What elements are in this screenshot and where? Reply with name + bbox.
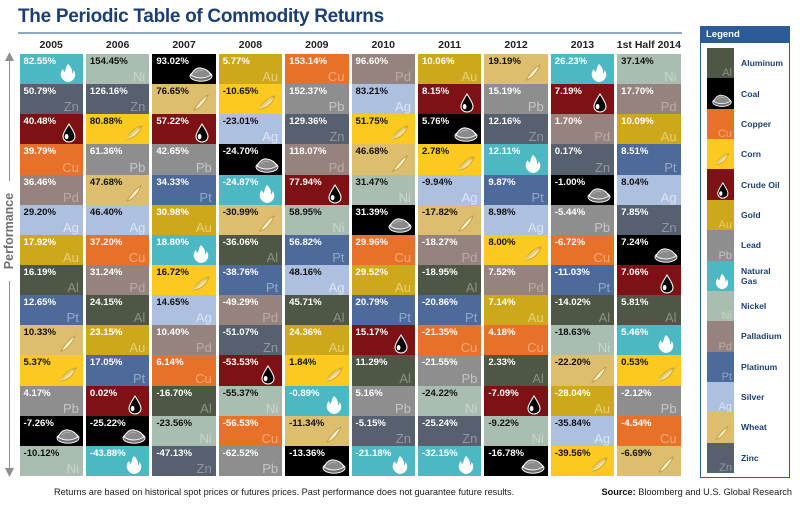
cell-return-value: 5.46%	[621, 327, 648, 338]
commodity-cell[interactable]: -24.22%Ni	[418, 386, 481, 416]
cell-return-value: 7.14%	[488, 297, 515, 308]
cell-commodity-symbol: Cu	[394, 251, 411, 265]
legend-symbol: Zn	[719, 462, 732, 474]
cell-return-value: -55.37%	[223, 388, 259, 399]
commodity-cell[interactable]: 8.04%Ag	[617, 175, 680, 205]
cell-commodity-symbol: Cu	[62, 161, 79, 175]
cell-commodity-symbol: Zn	[130, 100, 145, 114]
commodity-cell[interactable]: 0.02%	[86, 386, 149, 416]
commodity-cell[interactable]: -18.27%Pd	[418, 235, 481, 265]
cell-commodity-symbol: Ag	[395, 100, 411, 114]
commodity-cell[interactable]: -53.53%	[219, 355, 282, 385]
legend-swatch: Cu	[707, 109, 734, 139]
commodity-cell[interactable]: 18.80%	[152, 235, 215, 265]
commodity-cell[interactable]: 7.19%	[551, 84, 614, 114]
coal-icon	[711, 91, 733, 108]
commodity-cell[interactable]: 20.79%Pt	[352, 295, 415, 325]
cell-return-value: -39.56%	[555, 448, 591, 459]
commodity-cell[interactable]: -2.12%Pb	[617, 386, 680, 416]
coal-icon	[254, 154, 280, 174]
commodity-cell[interactable]: -7.26%	[20, 416, 83, 446]
commodity-cell[interactable]: 7.06%	[617, 265, 680, 295]
legend-swatch: Pd	[707, 321, 734, 351]
commodity-cell[interactable]: -28.04%Au	[551, 386, 614, 416]
legend-item[interactable]: Natural Gas	[707, 261, 785, 291]
commodity-cell[interactable]: 26.23%	[551, 54, 614, 84]
cell-return-value: 93.02%	[156, 56, 189, 67]
commodity-cell[interactable]: 37.14%Ni	[617, 54, 680, 84]
commodity-cell[interactable]: 93.02%	[152, 54, 215, 84]
cell-return-value: -56.53%	[223, 418, 259, 429]
cell-return-value: 31.24%	[90, 267, 123, 278]
commodity-cell[interactable]: -36.06%Al	[219, 235, 282, 265]
cell-return-value: 17.92%	[24, 237, 57, 248]
legend-item[interactable]: NiNickel	[707, 291, 785, 321]
commodity-cell[interactable]: 5.77%Au	[219, 54, 282, 84]
commodity-cell[interactable]: 17.70%Pd	[617, 84, 680, 114]
commodity-cell[interactable]: 40.48%	[20, 114, 83, 144]
legend-items: AlAluminumCoalCuCopperCornCrude OilAuGol…	[701, 43, 789, 477]
commodity-cell[interactable]: -11.03%Pt	[551, 265, 614, 295]
commodity-cell[interactable]: -9.94%Ag	[418, 175, 481, 205]
cell-commodity-symbol: Ag	[461, 191, 477, 205]
commodity-cell[interactable]: -4.54%Cu	[617, 416, 680, 446]
commodity-cell[interactable]: -10.65%	[219, 84, 282, 114]
year-column: 26.23%7.19%1.70%Pd0.17%Zn-1.00%-5.44%Pb-…	[551, 54, 614, 476]
cell-commodity-symbol: Al	[134, 311, 146, 325]
commodity-cell[interactable]: -21.35%Cu	[418, 325, 481, 355]
commodity-cell[interactable]: 10.09%Au	[617, 114, 680, 144]
cell-commodity-symbol: Au	[395, 281, 411, 295]
commodity-cell[interactable]: 7.14%Au	[484, 295, 547, 325]
commodity-cell[interactable]: 57.22%	[152, 114, 215, 144]
cell-return-value: 58.95%	[289, 207, 322, 218]
commodity-cell[interactable]: 153.14%Cu	[285, 54, 348, 84]
cell-return-value: 56.82%	[289, 237, 322, 248]
commodity-cell[interactable]: -32.15%	[418, 446, 481, 476]
cell-commodity-symbol: Pt	[399, 311, 411, 325]
commodity-cell[interactable]: 29.20%Ag	[20, 205, 83, 235]
cell-return-value: -51.07%	[223, 327, 259, 338]
commodity-cell[interactable]: 83.21%Ag	[352, 84, 415, 114]
wheat-icon	[653, 455, 679, 475]
legend-item[interactable]: PbLead	[707, 230, 785, 260]
column-header-2005: 2005	[19, 39, 83, 51]
oil-drop-icon	[321, 184, 347, 204]
commodity-cell[interactable]: 9.87%Pt	[484, 175, 547, 205]
legend-item[interactable]: CuCopper	[707, 109, 785, 139]
cell-commodity-symbol: Ag	[63, 221, 79, 235]
commodity-cell[interactable]: 2.33%Al	[484, 355, 547, 385]
commodity-cell[interactable]: 16.19%Al	[20, 265, 83, 295]
commodity-cell[interactable]: -16.78%	[484, 446, 547, 476]
commodity-cell[interactable]: 29.96%Cu	[352, 235, 415, 265]
commodity-cell[interactable]: 5.16%Pb	[352, 386, 415, 416]
commodity-cell[interactable]: -30.99%	[219, 205, 282, 235]
wheat-icon	[55, 334, 81, 354]
oil-drop-icon	[55, 123, 81, 143]
commodity-cell[interactable]: 4.17%Pb	[20, 386, 83, 416]
commodity-cell[interactable]: -6.72%Cu	[551, 235, 614, 265]
commodity-cell[interactable]: 47.68%	[86, 175, 149, 205]
cell-return-value: -7.26%	[24, 418, 54, 429]
commodity-cell[interactable]: 34.33%Pt	[152, 175, 215, 205]
commodity-cell[interactable]: 56.82%Pt	[285, 235, 348, 265]
cell-commodity-symbol: Cu	[328, 70, 345, 84]
legend-swatch: Ag	[707, 382, 734, 412]
coal-icon	[520, 455, 546, 475]
commodity-cell[interactable]: 10.33%	[20, 325, 83, 355]
commodity-cell[interactable]: 5.76%	[418, 114, 481, 144]
commodity-cell[interactable]: 31.39%	[352, 205, 415, 235]
commodity-cell[interactable]: 8.15%	[418, 84, 481, 114]
commodity-cell[interactable]: 5.46%	[617, 325, 680, 355]
coal-icon	[321, 455, 347, 475]
commodity-cell[interactable]: -51.07%Zn	[219, 325, 282, 355]
commodity-cell[interactable]: 154.45%Ni	[86, 54, 149, 84]
flame-icon	[387, 455, 413, 475]
commodity-cell[interactable]: 24.15%Al	[86, 295, 149, 325]
commodity-cell[interactable]: 80.88%	[86, 114, 149, 144]
oil-drop-icon	[387, 334, 413, 354]
commodity-cell[interactable]: 15.19%Pb	[484, 84, 547, 114]
column-header-2007: 2007	[152, 39, 216, 51]
commodity-cell[interactable]: 16.72%	[152, 265, 215, 295]
commodity-cell[interactable]: 61.36%Pb	[86, 144, 149, 174]
cell-commodity-symbol: Pb	[129, 161, 145, 175]
cell-return-value: -30.99%	[223, 207, 259, 218]
year-column: 10.06%Au8.15%5.76%2.78%-9.94%Ag-17.82%-1…	[418, 54, 481, 476]
cell-commodity-symbol: Au	[528, 311, 544, 325]
commodity-cell[interactable]: -20.86%Pt	[418, 295, 481, 325]
cell-return-value: -28.04%	[555, 388, 591, 399]
cell-commodity-symbol: Cu	[660, 432, 677, 446]
commodity-cell[interactable]: 46.68%	[352, 144, 415, 174]
commodity-cell[interactable]: 48.16%Ag	[285, 265, 348, 295]
cell-return-value: 1.84%	[289, 357, 316, 368]
cell-commodity-symbol: Ni	[67, 462, 79, 476]
commodity-cell[interactable]: 1.70%Pd	[551, 114, 614, 144]
cell-commodity-symbol: Ni	[332, 221, 344, 235]
commodity-cell[interactable]: 82.55%	[20, 54, 83, 84]
legend-label: Gold	[734, 210, 761, 220]
year-column: 37.14%Ni17.70%Pd10.09%Au8.51%Pt8.04%Ag7.…	[617, 54, 680, 476]
cell-return-value: 47.68%	[90, 177, 123, 188]
commodity-cell[interactable]: -25.22%	[86, 416, 149, 446]
commodity-cell[interactable]: -22.20%	[551, 355, 614, 385]
cell-return-value: 76.65%	[156, 86, 189, 97]
oil-drop-icon	[121, 395, 147, 415]
commodity-cell[interactable]: 7.24%	[617, 235, 680, 265]
oil-drop-icon	[711, 182, 733, 199]
returns-table: 2005200620072008200920102011201220131st …	[18, 36, 682, 476]
commodity-cell[interactable]: 19.19%	[484, 54, 547, 84]
cell-commodity-symbol: Pd	[63, 191, 79, 205]
cell-return-value: 23.15%	[90, 327, 123, 338]
source-note: Source: Bloomberg and U.S. Global Resear…	[602, 487, 793, 497]
commodity-cell[interactable]: 15.17%	[352, 325, 415, 355]
commodity-cell[interactable]: 12.11%	[484, 144, 547, 174]
cell-commodity-symbol: Cu	[594, 251, 611, 265]
legend-item[interactable]: PdPalladium	[707, 321, 785, 351]
wheat-icon	[188, 93, 214, 113]
commodity-cell[interactable]: 51.75%	[352, 114, 415, 144]
cell-return-value: -18.63%	[555, 327, 591, 338]
commodity-cell[interactable]: 17.92%Au	[20, 235, 83, 265]
cell-return-value: -38.76%	[223, 267, 259, 278]
commodity-cell[interactable]: -0.89%	[285, 386, 348, 416]
legend-item[interactable]: ZnZinc	[707, 443, 785, 473]
commodity-cell[interactable]: 42.65%Pb	[152, 144, 215, 174]
commodity-cell[interactable]: 7.52%Pd	[484, 265, 547, 295]
commodity-cell[interactable]: -24.87%	[219, 175, 282, 205]
cell-commodity-symbol: Zn	[595, 161, 610, 175]
commodity-cell[interactable]: -49.29%Pd	[219, 295, 282, 325]
cell-return-value: 4.18%	[488, 327, 515, 338]
wheat-icon	[321, 425, 347, 445]
commodity-cell[interactable]: -5.44%Pb	[551, 205, 614, 235]
cell-return-value: 10.33%	[24, 327, 57, 338]
commodity-cell[interactable]: 29.52%Au	[352, 265, 415, 295]
commodity-cell[interactable]: -18.95%Al	[418, 265, 481, 295]
commodity-cell[interactable]: -6.69%	[617, 446, 680, 476]
cell-commodity-symbol: Zn	[64, 100, 79, 114]
commodity-cell[interactable]: 10.06%Au	[418, 54, 481, 84]
cell-return-value: 96.60%	[356, 56, 389, 67]
commodity-cell[interactable]: -23.56%Ni	[152, 416, 215, 446]
cell-commodity-symbol: Ni	[199, 432, 211, 446]
commodity-cell[interactable]: 7.85%Zn	[617, 205, 680, 235]
wheat-icon	[711, 425, 733, 442]
cell-commodity-symbol: Au	[461, 70, 477, 84]
oil-drop-icon	[188, 123, 214, 143]
commodity-cell[interactable]: -9.22%Ni	[484, 416, 547, 446]
commodity-cell[interactable]: -14.02%Al	[551, 295, 614, 325]
commodity-cell[interactable]: 2.78%	[418, 144, 481, 174]
commodity-cell[interactable]: -17.82%	[418, 205, 481, 235]
commodity-cell[interactable]: -62.52%Pb	[219, 446, 282, 476]
cell-return-value: 10.06%	[422, 56, 455, 67]
cell-return-value: 17.70%	[621, 86, 654, 97]
commodity-cell[interactable]: -18.63%Ni	[551, 325, 614, 355]
cell-return-value: 5.37%	[24, 357, 51, 368]
cell-return-value: -1.00%	[555, 177, 585, 188]
cell-return-value: -18.95%	[422, 267, 458, 278]
commodity-cell[interactable]: 129.36%Zn	[285, 114, 348, 144]
legend-swatch: Ni	[707, 291, 734, 321]
cell-commodity-symbol: Zn	[529, 130, 544, 144]
cell-commodity-symbol: Pd	[329, 161, 345, 175]
commodity-cell[interactable]: 10.40%Pd	[152, 325, 215, 355]
cell-commodity-symbol: Cu	[527, 341, 544, 355]
oil-drop-icon	[254, 365, 280, 385]
commodity-cell[interactable]: 17.05%Pt	[86, 355, 149, 385]
wheat-icon	[453, 214, 479, 234]
commodity-cell[interactable]: -56.53%Cu	[219, 416, 282, 446]
legend-item[interactable]: Crude Oil	[707, 169, 785, 199]
cell-commodity-symbol: Au	[262, 70, 278, 84]
cell-return-value: -22.20%	[555, 357, 591, 368]
cell-return-value: -0.89%	[289, 388, 319, 399]
commodity-cell[interactable]: 118.07%Pd	[285, 144, 348, 174]
commodity-cell[interactable]: 31.47%Ni	[352, 175, 415, 205]
commodity-cell[interactable]: -35.84%Ag	[551, 416, 614, 446]
commodity-cell[interactable]: 11.29%Al	[352, 355, 415, 385]
corn-icon	[711, 151, 733, 168]
commodity-cell[interactable]: 46.40%Ag	[86, 205, 149, 235]
commodity-cell[interactable]: 50.79%Zn	[20, 84, 83, 114]
cell-return-value: 8.15%	[422, 86, 449, 97]
cell-return-value: -43.88%	[90, 448, 126, 459]
legend-item[interactable]: Corn	[707, 139, 785, 169]
commodity-cell[interactable]: 5.81%Al	[617, 295, 680, 325]
commodity-cell[interactable]: 1.84%	[285, 355, 348, 385]
title-divider	[18, 32, 682, 34]
cell-return-value: -5.44%	[555, 207, 585, 218]
oil-drop-icon	[653, 274, 679, 294]
cell-return-value: 10.40%	[156, 327, 189, 338]
commodity-cell[interactable]: -13.36%	[285, 446, 348, 476]
cell-return-value: 15.19%	[488, 86, 521, 97]
cell-return-value: 29.20%	[24, 207, 57, 218]
cell-return-value: 19.19%	[488, 56, 521, 67]
cell-return-value: 34.33%	[156, 177, 189, 188]
corn-icon	[387, 123, 413, 143]
cell-return-value: 15.17%	[356, 327, 389, 338]
cell-return-value: 153.14%	[289, 56, 327, 67]
flame-icon	[121, 455, 147, 475]
commodity-cell[interactable]: 76.65%	[152, 84, 215, 114]
commodity-cell[interactable]: 77.94%	[285, 175, 348, 205]
legend-item[interactable]: Wheat	[707, 412, 785, 442]
commodity-cell[interactable]: -39.56%	[551, 446, 614, 476]
commodity-cell[interactable]: 0.17%Zn	[551, 144, 614, 174]
cell-return-value: 61.36%	[90, 146, 123, 157]
wheat-icon	[586, 365, 612, 385]
commodity-cell[interactable]: 12.16%Zn	[484, 114, 547, 144]
legend-item[interactable]: AuGold	[707, 200, 785, 230]
commodity-cell[interactable]: -43.88%	[86, 446, 149, 476]
commodity-cell[interactable]: -7.09%	[484, 386, 547, 416]
cell-return-value: -16.78%	[488, 448, 524, 459]
commodity-cell[interactable]: 45.71%Al	[285, 295, 348, 325]
commodity-cell[interactable]: 8.51%Pt	[617, 144, 680, 174]
commodity-cell[interactable]: 23.15%Au	[86, 325, 149, 355]
commodity-cell[interactable]: -24.70%	[219, 144, 282, 174]
commodity-returns-chart: The Periodic Table of Commodity Returns …	[0, 0, 800, 515]
legend-label: Nickel	[734, 301, 766, 311]
commodity-cell[interactable]: -55.37%Ni	[219, 386, 282, 416]
cell-return-value: 42.65%	[156, 146, 189, 157]
commodity-cell[interactable]: 8.00%	[484, 235, 547, 265]
commodity-cell[interactable]: 37.20%Cu	[86, 235, 149, 265]
cell-commodity-symbol: Al	[200, 402, 212, 416]
commodity-cell[interactable]: 39.79%Cu	[20, 144, 83, 174]
cell-commodity-symbol: Pd	[661, 100, 677, 114]
legend-item[interactable]: Coal	[707, 78, 785, 108]
legend-label: Copper	[734, 119, 771, 129]
cell-return-value: 8.00%	[488, 237, 515, 248]
commodity-cell[interactable]: 30.98%Au	[152, 205, 215, 235]
commodity-cell[interactable]: 12.65%Pt	[20, 295, 83, 325]
corn-icon	[55, 365, 81, 385]
commodity-cell[interactable]: 8.98%Ag	[484, 205, 547, 235]
commodity-cell[interactable]: 36.46%Pd	[20, 175, 83, 205]
commodity-cell[interactable]: -47.13%Zn	[152, 446, 215, 476]
cell-commodity-symbol: Al	[466, 281, 478, 295]
cell-return-value: -24.22%	[422, 388, 458, 399]
legend-label: Palladium	[734, 331, 782, 341]
corn-icon	[653, 365, 679, 385]
commodity-cell[interactable]: 126.16%Zn	[86, 84, 149, 114]
commodity-cell[interactable]: -38.76%Pt	[219, 265, 282, 295]
commodity-cell[interactable]: -23.01%Ag	[219, 114, 282, 144]
legend-item[interactable]: AgSilver	[707, 382, 785, 412]
legend-swatch: Zn	[707, 443, 734, 473]
cell-commodity-symbol: Al	[333, 311, 345, 325]
cell-return-value: 129.36%	[289, 116, 327, 127]
coal-icon	[453, 123, 479, 143]
cell-commodity-symbol: Ni	[133, 70, 145, 84]
cell-commodity-symbol: Al	[532, 372, 544, 386]
cell-commodity-symbol: Cu	[262, 432, 279, 446]
commodity-cell[interactable]: 5.37%	[20, 355, 83, 385]
oil-drop-icon	[453, 93, 479, 113]
cell-return-value: 30.98%	[156, 207, 189, 218]
coal-icon	[387, 214, 413, 234]
commodity-cell[interactable]: -21.55%Pb	[418, 355, 481, 385]
cell-return-value: 0.17%	[555, 146, 582, 157]
cell-commodity-symbol: Ni	[465, 402, 477, 416]
cell-commodity-symbol: Ag	[528, 221, 544, 235]
performance-axis-label: Performance	[0, 181, 18, 281]
commodity-cell[interactable]: -11.34%	[285, 416, 348, 446]
commodity-cell[interactable]: 6.14%Cu	[152, 355, 215, 385]
commodity-cell[interactable]: -21.18%	[352, 446, 415, 476]
commodity-cell[interactable]: -1.00%	[551, 175, 614, 205]
commodity-cell[interactable]: 152.37%Pb	[285, 84, 348, 114]
cell-return-value: 0.53%	[621, 357, 648, 368]
legend-item[interactable]: PtPlatinum	[707, 352, 785, 382]
commodity-cell[interactable]: 96.60%Pd	[352, 54, 415, 84]
cell-commodity-symbol: Zn	[263, 341, 278, 355]
performance-axis: Performance	[0, 52, 20, 477]
cell-return-value: -13.36%	[289, 448, 325, 459]
legend-swatch	[707, 261, 734, 291]
cell-commodity-symbol: Pt	[465, 311, 477, 325]
cell-return-value: -4.54%	[621, 418, 651, 429]
legend-item[interactable]: AlAluminum	[707, 48, 785, 78]
column-header-2006: 2006	[85, 39, 149, 51]
commodity-cell[interactable]: 24.36%Au	[285, 325, 348, 355]
commodity-cell[interactable]: 31.24%Pd	[86, 265, 149, 295]
commodity-cell[interactable]: -10.12%Ni	[20, 446, 83, 476]
commodity-cell[interactable]: 14.65%Ag	[152, 295, 215, 325]
cell-return-value: -21.18%	[356, 448, 392, 459]
cell-return-value: 5.77%	[223, 56, 250, 67]
cell-return-value: -10.65%	[223, 86, 259, 97]
commodity-cell[interactable]: 58.95%Ni	[285, 205, 348, 235]
commodity-cell[interactable]: -5.15%Zn	[352, 416, 415, 446]
legend-label: Wheat	[734, 422, 767, 432]
commodity-cell[interactable]: 0.53%	[617, 355, 680, 385]
cell-commodity-symbol: Al	[267, 251, 279, 265]
year-column: 82.55%50.79%Zn40.48%39.79%Cu36.46%Pd29.2…	[20, 54, 83, 476]
commodity-cell[interactable]: -25.24%Zn	[418, 416, 481, 446]
commodity-cell[interactable]: -16.70%Al	[152, 386, 215, 416]
legend-swatch: Pt	[707, 352, 734, 382]
commodity-cell[interactable]: 4.18%Cu	[484, 325, 547, 355]
